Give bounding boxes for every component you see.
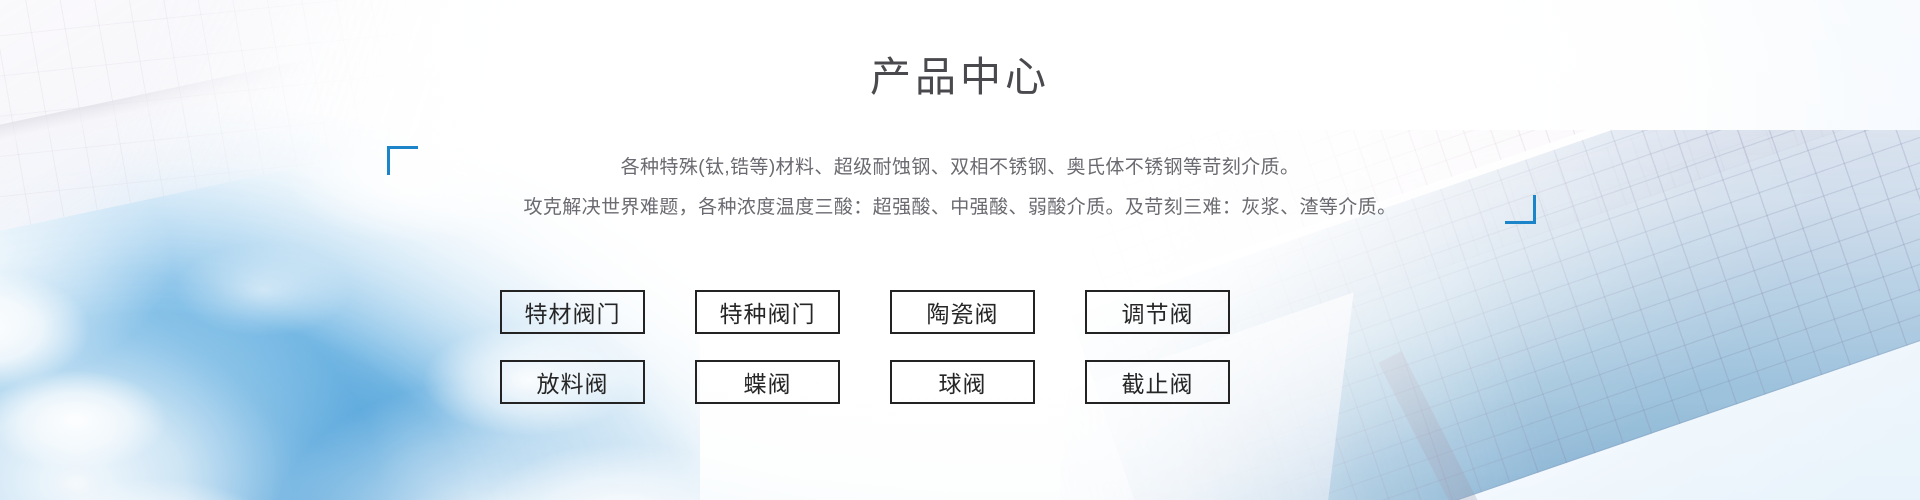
subtitle-block: 各种特殊(钛,锆等)材料、超级耐蚀钢、双相不锈钢、奥氏体不锈钢等苛刻介质。 攻克… xyxy=(0,148,1920,228)
category-button-te-cai-fa-men[interactable]: 特材阀门 xyxy=(500,290,645,334)
subtitle-line-1: 各种特殊(钛,锆等)材料、超级耐蚀钢、双相不锈钢、奥氏体不锈钢等苛刻介质。 xyxy=(0,148,1920,188)
category-button-die-fa[interactable]: 蝶阀 xyxy=(695,360,840,404)
page-title: 产品中心 xyxy=(0,50,1920,105)
category-button-jie-zhi-fa[interactable]: 截止阀 xyxy=(1085,360,1230,404)
product-center-banner: 产品中心 各种特殊(钛,锆等)材料、超级耐蚀钢、双相不锈钢、奥氏体不锈钢等苛刻介… xyxy=(0,0,1920,500)
category-button-fang-liao-fa[interactable]: 放料阀 xyxy=(500,360,645,404)
bracket-top-left-icon xyxy=(387,146,418,175)
category-button-te-zhong-fa-men[interactable]: 特种阀门 xyxy=(695,290,840,334)
category-button-grid: 特材阀门 特种阀门 陶瓷阀 调节阀 放料阀 蝶阀 球阀 截止阀 xyxy=(500,290,1230,404)
category-button-tao-ci-fa[interactable]: 陶瓷阀 xyxy=(890,290,1035,334)
category-button-qiu-fa[interactable]: 球阀 xyxy=(890,360,1035,404)
banner-content: 产品中心 各种特殊(钛,锆等)材料、超级耐蚀钢、双相不锈钢、奥氏体不锈钢等苛刻介… xyxy=(0,0,1920,500)
subtitle-line-2: 攻克解决世界难题，各种浓度温度三酸：超强酸、中强酸、弱酸介质。及苛刻三难：灰浆、… xyxy=(0,188,1920,228)
bracket-bottom-right-icon xyxy=(1505,195,1536,224)
category-button-tiao-jie-fa[interactable]: 调节阀 xyxy=(1085,290,1230,334)
